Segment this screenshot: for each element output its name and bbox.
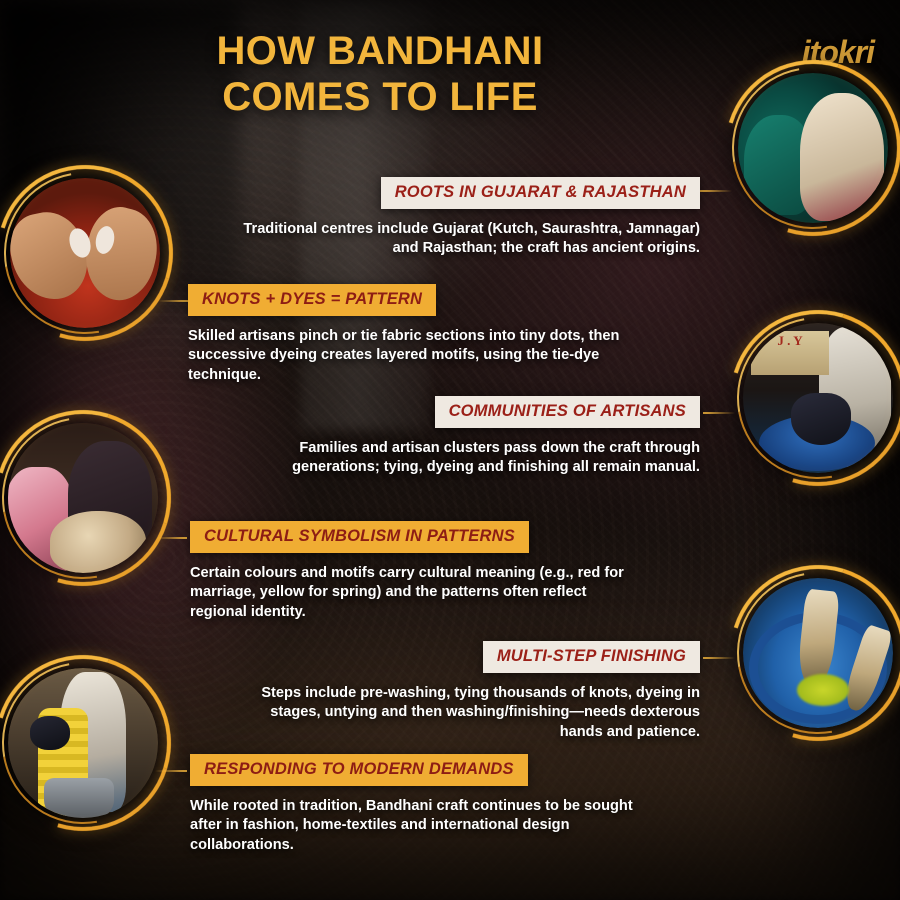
infographic-canvas: HOW BANDHANI COMES TO LIFE itokri J . Y: [0, 0, 900, 900]
section-block-knots-dyes: KNOTS + DYES = PATTERN Skilled artisans …: [188, 284, 636, 385]
connector-line-communities: [703, 412, 735, 414]
connector-line-modern: [155, 770, 187, 772]
section-body-multi-step-finishing: Steps include pre-washing, tying thousan…: [260, 684, 700, 742]
photo-blue-dye-bath: [743, 578, 893, 728]
section-block-roots: ROOTS IN GUJARAT & RAJASTHAN Traditional…: [240, 177, 700, 259]
connector-line-knots: [158, 300, 188, 302]
section-heading-roots: ROOTS IN GUJARAT & RAJASTHAN: [381, 177, 700, 209]
section-block-modern-demands: RESPONDING TO MODERN DEMANDS While roote…: [190, 754, 650, 855]
connector-line-cultural: [155, 537, 187, 539]
photo-hands-tying-knots: [10, 178, 160, 328]
section-block-communities: COMMUNITIES OF ARTISANS Families and art…: [250, 396, 700, 478]
section-block-cultural-symbolism: CULTURAL SYMBOLISM IN PATTERNS Certain c…: [190, 521, 638, 622]
section-body-knots-dyes: Skilled artisans pinch or tie fabric sec…: [188, 327, 636, 385]
section-body-cultural-symbolism: Certain colours and motifs carry cultura…: [190, 564, 638, 622]
section-heading-multi-step-finishing: MULTI-STEP FINISHING: [483, 641, 700, 673]
section-heading-communities: COMMUNITIES OF ARTISANS: [435, 396, 700, 428]
section-heading-knots-dyes: KNOTS + DYES = PATTERN: [188, 284, 436, 316]
photo-dyer-at-vat: J . Y: [743, 323, 893, 473]
section-heading-cultural-symbolism: CULTURAL SYMBOLISM IN PATTERNS: [190, 521, 529, 553]
page-title: HOW BANDHANI COMES TO LIFE: [0, 28, 760, 120]
section-block-multi-step-finishing: MULTI-STEP FINISHING Steps include pre-w…: [260, 641, 700, 742]
section-heading-modern-demands: RESPONDING TO MODERN DEMANDS: [190, 754, 528, 786]
connector-line-finishing: [703, 657, 735, 659]
brand-logo[interactable]: itokri: [802, 34, 874, 71]
photo-yellow-cloth-dyeing: [8, 668, 158, 818]
title-line-2: COMES TO LIFE: [0, 74, 760, 120]
photo-women-tying-saree: [738, 73, 888, 223]
section-body-roots: Traditional centres include Gujarat (Kut…: [240, 220, 700, 259]
section-body-modern-demands: While rooted in tradition, Bandhani craf…: [190, 797, 650, 855]
connector-line-roots: [700, 190, 732, 192]
title-line-1: HOW BANDHANI: [0, 28, 760, 74]
photo-elder-artisan-untying: [8, 423, 158, 573]
section-body-communities: Families and artisan clusters pass down …: [250, 439, 700, 478]
